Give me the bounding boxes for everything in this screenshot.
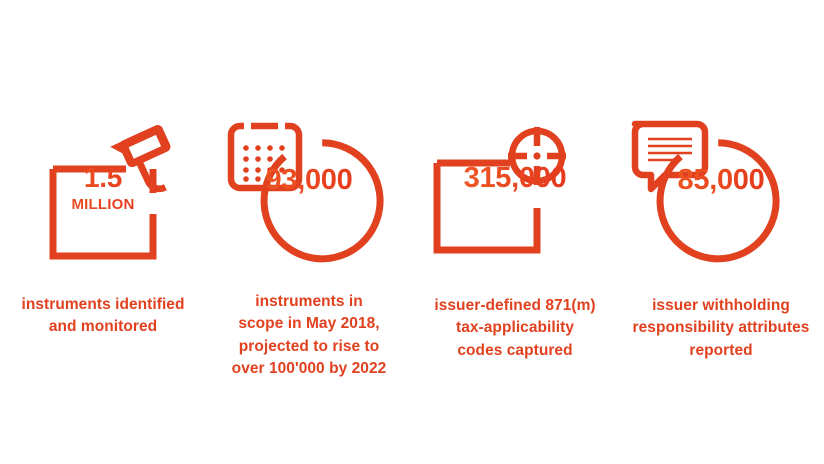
stat-item-instruments-in-scope: 93,000 instruments in scope in May 2018,… [206, 0, 412, 464]
box-with-crosshair-graphic [412, 108, 618, 278]
crosshair-target-icon [508, 127, 566, 185]
calendar-icon [231, 118, 299, 188]
stat-graphic: 315,000 [412, 108, 618, 278]
stat-item-instruments-monitored: 1.5 MILLION instruments identified and m… [0, 0, 206, 464]
stat-caption: instruments in scope in May 2018, projec… [209, 291, 409, 381]
ring-with-calendar-graphic [206, 108, 412, 278]
stat-graphic: 85,000 [618, 108, 824, 278]
stat-graphic: 93,000 [206, 108, 412, 278]
stat-caption: issuer-defined 871(m) tax-applicability … [415, 295, 615, 362]
stat-caption: instruments identified and monitored [3, 294, 203, 339]
security-camera-icon [110, 125, 170, 192]
box-outline [53, 169, 153, 256]
stat-graphic: 1.5 MILLION [0, 108, 206, 278]
speech-bubble-lines [648, 139, 692, 160]
box-with-camera-graphic [0, 108, 206, 278]
stat-item-tax-applicability-codes: 315,000 issuer-defined 871(m) tax-applic… [412, 0, 618, 464]
ring-with-speech-bubble-graphic [618, 108, 824, 278]
speech-bubble-icon [635, 124, 705, 189]
stat-item-withholding-attributes: 85,000 issuer withholding responsibility… [618, 0, 824, 464]
stat-caption: issuer withholding responsibility attrib… [621, 295, 821, 362]
infographic-container: 1.5 MILLION instruments identified and m… [0, 0, 824, 464]
